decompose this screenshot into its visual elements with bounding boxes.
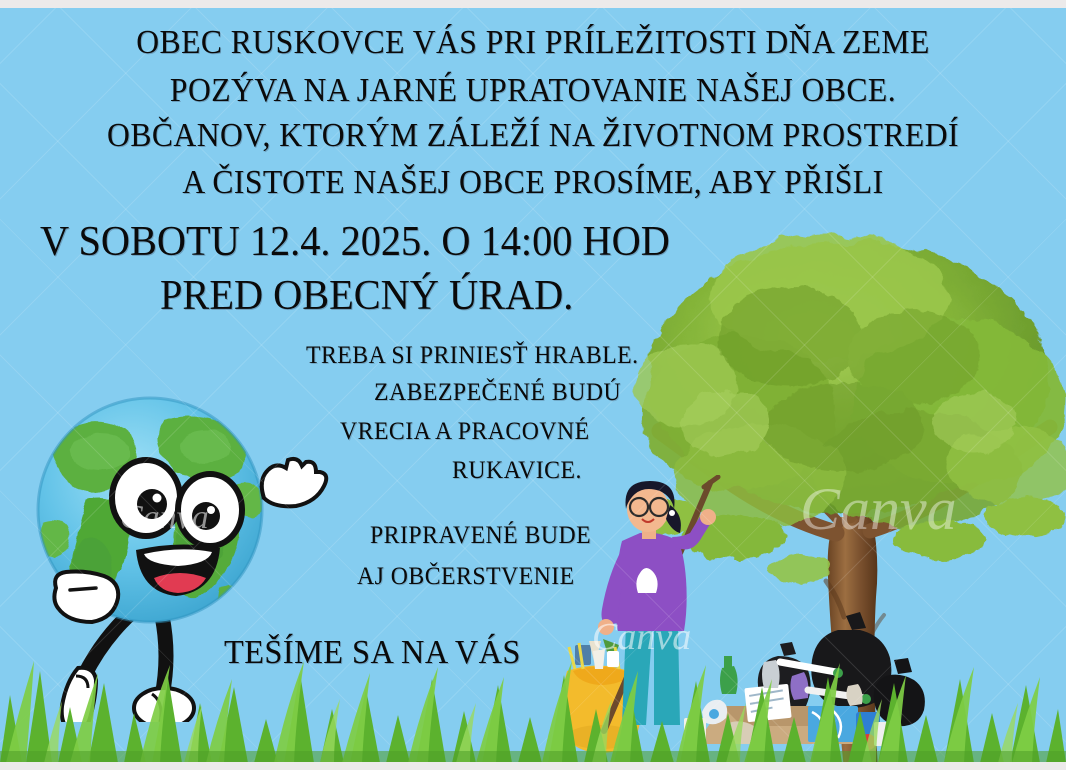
sky-background: Canva Canva Canva OBEC RUSKOVCE VÁS PRI …: [0, 7, 1066, 763]
event-place-line: PRED OBECNÝ ÚRAD.: [160, 272, 573, 320]
right-hand: [700, 509, 716, 525]
left-pupil: [137, 489, 167, 519]
top-edge-strip: [0, 0, 1066, 8]
instructions-line-2: ZABEZPEČENÉ BUDÚ: [374, 379, 621, 407]
right-glove: [262, 459, 327, 506]
grass-foreground: [0, 643, 1066, 763]
bottom-edge-strip: [0, 762, 1066, 770]
instructions-line-4: RUKAVICE.: [452, 457, 582, 485]
right-pupil: [192, 502, 220, 530]
earring: [669, 510, 675, 516]
instructions-line-3: VRECIA A PRACOVNÉ: [340, 418, 590, 446]
instructions-line-1: TREBA SI PRINIESŤ HRABLE.: [306, 342, 639, 370]
headline-line-2: POZÝVA NA JARNÉ UPRATOVANIE NAŠEJ OBCE.: [37, 72, 1028, 110]
headline-line-1: OBEC RUSKOVCE VÁS PRI PRÍLEŽITOSTI DŇA Z…: [37, 24, 1028, 62]
left-glove: [54, 572, 118, 623]
left-hand: [598, 619, 614, 635]
headline-line-4: A ČISTOTE NAŠEJ OBCE PROSÍME, ABY PŘIŠLI: [37, 164, 1028, 202]
closing-line: TEŠÍME SA NA VÁS: [224, 634, 521, 672]
poster-canvas: Canva Canva Canva OBEC RUSKOVCE VÁS PRI …: [0, 0, 1066, 770]
refreshments-line-2: AJ OBČERSTVENIE: [357, 563, 575, 591]
event-datetime-line: V SOBOTU 12.4. 2025. O 14:00 HOD: [40, 218, 670, 266]
refreshments-line-1: PRIPRAVENÉ BUDE: [370, 522, 591, 550]
headline-line-3: OBČANOV, KTORÝM ZÁLEŽÍ NA ŽIVOTNOM PROST…: [37, 117, 1028, 155]
